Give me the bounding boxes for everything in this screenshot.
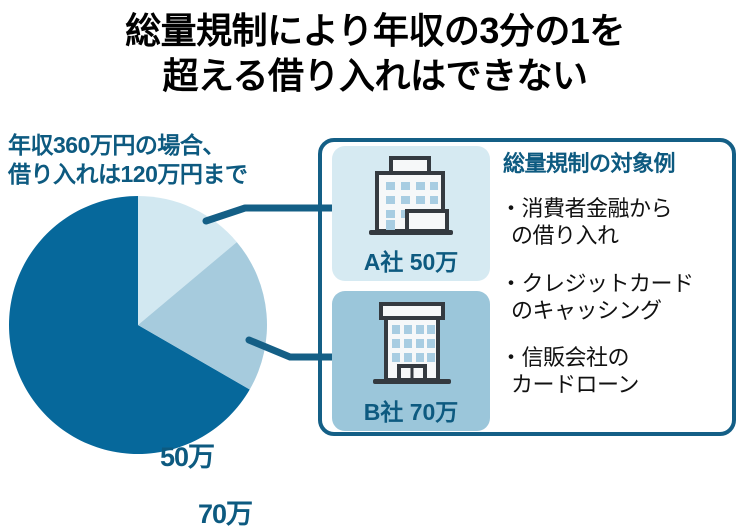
chart-caption-line-2: 借り入れは120万円まで [8,160,320,189]
page-title: 総量規制により年収の3分の1を 超える借り入れはできない [0,8,750,99]
infographic-root: 総量規制により年収の3分の1を 超える借り入れはできない 年収360万円の場合、… [0,0,750,460]
pie-chart-svg [8,196,268,454]
list-item-line-1: ・消費者金融から [500,195,738,222]
list-item-line-2: の借り入れ [500,222,738,249]
list-item: ・信販会社の カードローン [500,344,738,399]
title-line-2: 超える借り入れはできない [0,53,750,98]
company-card-b-label: B社 70万 [364,393,459,427]
company-card-a[interactable]: A社 50万 [332,146,490,281]
office-building-icon [359,152,463,245]
office-building-icon [359,298,463,395]
regulation-examples-list: ・消費者金融から の借り入れ ・クレジットカード のキャッシング ・信販会社の … [500,195,738,419]
pie-chart: 50万 70万 [8,196,268,454]
list-item-line-1: ・クレジットカード [500,270,738,297]
pie-slice-50-label: 50万 [160,435,214,474]
list-item: ・クレジットカード のキャッシング [500,270,738,325]
chart-caption-line-1: 年収360万円の場合、 [8,131,320,160]
pie-slice-70-label: 70万 [198,492,252,531]
title-line-1: 総量規制により年収の3分の1を [0,8,750,53]
list-item-line-2: カードローン [500,371,738,398]
list-item-line-2: のキャッシング [500,297,738,324]
company-card-b[interactable]: B社 70万 [332,291,490,431]
list-item-line-1: ・信販会社の [500,344,738,371]
panel-heading: 総量規制の対象例 [503,146,675,178]
list-item: ・消費者金融から の借り入れ [500,195,738,250]
company-card-a-label: A社 50万 [364,243,459,277]
chart-caption: 年収360万円の場合、 借り入れは120万円まで [8,131,320,188]
